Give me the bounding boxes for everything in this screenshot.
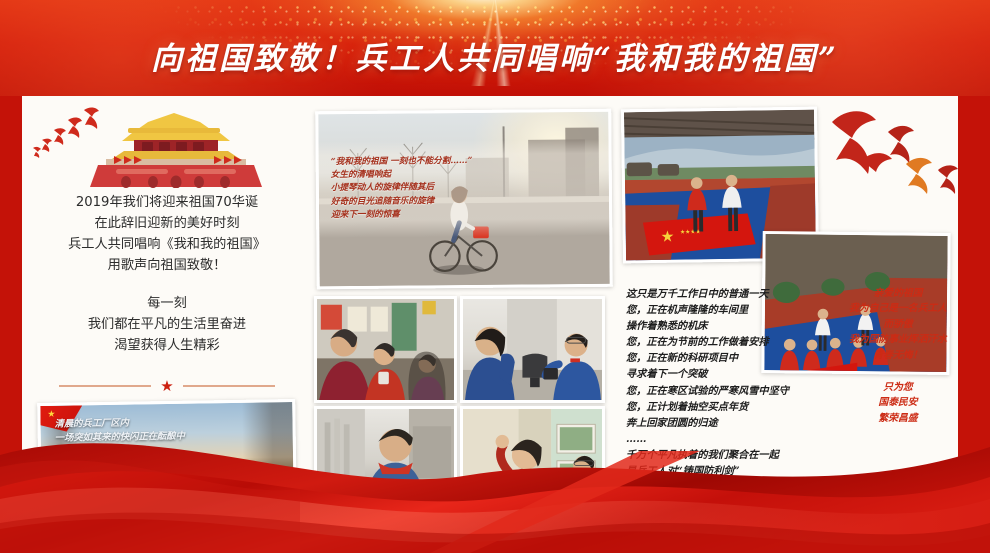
red-block2-line-1: 只为您 <box>838 380 958 395</box>
left-p1-line-1: 2019年我们将迎来祖国70华诞 <box>22 192 312 213</box>
left-text-block: 2019年我们将迎来祖国70华诞 在此辞旧迎新的美好时刻 兵工人共同唱响《我和我… <box>22 192 312 356</box>
divider-bar-right <box>183 385 275 387</box>
header-banner: 向祖国致敬！兵工人共同唱响“我和我的祖国” <box>0 0 990 96</box>
right-body-line-1: 这只是万千工作日中的普通一天 <box>626 286 834 302</box>
right-body-line-7: 您，正在寒区试验的严寒风雪中坚守 <box>626 383 834 399</box>
tiananmen-gate-illustration <box>28 104 306 188</box>
left-p2-line-3: 渴望获得人生精彩 <box>22 335 312 356</box>
svg-text:★★★★: ★★★★ <box>680 228 701 235</box>
bicycle-caption-line-5: 迎来下一刻的惊喜 <box>331 207 599 223</box>
left-paragraph-2: 每一刻 我们都在平凡的生活里奋进 渴望获得人生精彩 <box>22 293 312 356</box>
right-body-line-2: 您，正在机声隆隆的车间里 <box>626 302 834 318</box>
photo-girl-on-bicycle: “我和我的祖国 一刻也不能分割……” 女生的清唱响起 小提琴动人的旋律伴随其后 … <box>315 109 613 290</box>
star-icon: ★ <box>160 379 173 394</box>
left-p2-line-2: 我们都在平凡的生活里奋进 <box>22 314 312 335</box>
left-p1-line-4: 用歌声向祖国致敬！ <box>22 255 312 276</box>
left-p2-line-1: 每一刻 <box>22 293 312 314</box>
divider-bar-left <box>59 385 151 387</box>
red-silk-ribbon <box>0 403 990 553</box>
right-body-line-4: 您，正在为节前的工作做着安排 <box>626 334 834 350</box>
right-body-line-3: 操作着熟悉的机床 <box>626 318 834 334</box>
left-p1-line-2: 在此辞旧迎新的美好时刻 <box>22 213 312 234</box>
red-block1-line-4: 我为国防事业挥洒汗水 <box>838 332 958 347</box>
photo-two-workers-blue-uniform <box>460 296 605 403</box>
left-paragraph-1: 2019年我们将迎来祖国70华诞 在此辞旧迎新的美好时刻 兵工人共同唱响《我和我… <box>22 192 312 276</box>
section-divider: ★ <box>38 379 296 393</box>
svg-text:★: ★ <box>660 228 674 246</box>
flying-doves-illustration <box>820 104 960 214</box>
photo-elderly-women-scene <box>317 299 454 402</box>
red-block1-line-1: 亲爱的祖国 <box>838 286 958 301</box>
red-block1-line-3: 而骄傲 <box>838 317 958 332</box>
poster-root: 向祖国致敬！兵工人共同唱响“我和我的祖国” <box>0 0 990 553</box>
red-block1-line-5: 青春无悔！ <box>838 348 958 363</box>
right-body-line-5: 您，正在新的科研项目中 <box>626 350 834 366</box>
right-body-line-6: 寻求着下一个突破 <box>626 366 834 382</box>
photo-elderly-women-singing <box>314 296 457 403</box>
red-block1-line-2: 我为自己是一名兵工人 <box>838 301 958 316</box>
left-p1-line-3: 兵工人共同唱响《我和我的祖国》 <box>22 234 312 255</box>
photo-two-workers-scene <box>463 299 602 402</box>
photo-bicycle-caption: “我和我的祖国 一刻也不能分割……” 女生的清唱响起 小提琴动人的旋律伴随其后 … <box>331 154 600 222</box>
red-text-gap <box>838 363 958 380</box>
page-title: 向祖国致敬！兵工人共同唱响“我和我的祖国” <box>0 33 990 78</box>
